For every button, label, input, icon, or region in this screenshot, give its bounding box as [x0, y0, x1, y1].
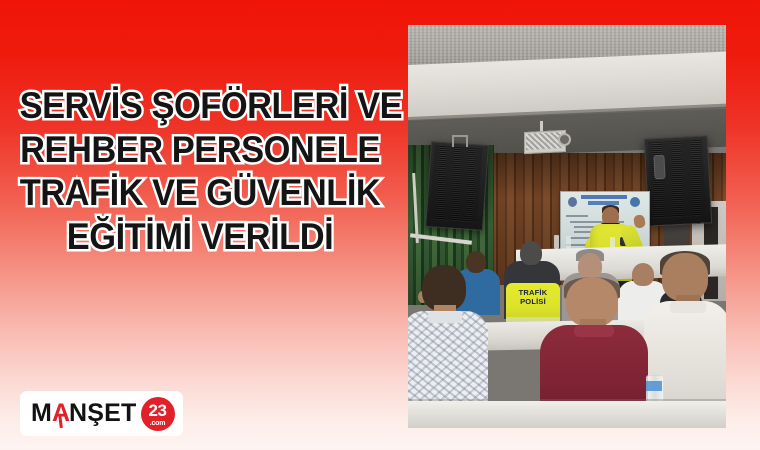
- loudspeaker-left-grill: [429, 145, 482, 222]
- headline-block: SERVİS ŞOFÖRLERİ VE REHBER PERSONELE TRA…: [0, 88, 400, 254]
- audience-front-3-collar: [670, 301, 706, 313]
- logo-badge-number: 23: [149, 402, 167, 419]
- audience-front-3-head: [662, 253, 708, 301]
- water-bottle-3: [610, 237, 615, 249]
- logo-badge-23: 23 .com: [141, 397, 175, 431]
- water-bottle-1: [554, 235, 559, 249]
- site-logo[interactable]: MANŞET 23 .com: [20, 391, 183, 436]
- slide-body-line-1: [566, 215, 588, 217]
- logo-letter-a: A: [52, 401, 69, 426]
- logo-text-nset: NŞET: [69, 401, 136, 426]
- logo-wordmark: MANŞET: [31, 401, 137, 426]
- audience-back-1-head: [466, 251, 486, 273]
- headline-line-2: REHBER PERSONELE: [14, 132, 386, 168]
- slide-title-line-1: [581, 195, 627, 199]
- logo-text-m: M: [31, 401, 52, 426]
- water-bottle-2: [566, 236, 571, 249]
- projector-lens: [560, 135, 569, 144]
- slide-logo-right: [630, 197, 640, 207]
- slide-logo-left: [568, 197, 577, 207]
- headline-line-1: SERVİS ŞOFÖRLERİ VE: [14, 88, 386, 124]
- slide-title-line-2: [588, 201, 619, 205]
- vest-text-block: TRAFİK POLİSİ: [506, 288, 560, 306]
- audience-front-1-collar: [428, 311, 462, 323]
- audience-back-4-head: [632, 263, 654, 286]
- loudspeaker-left-bracket: [452, 135, 468, 147]
- audience-front-2-collar: [574, 325, 614, 337]
- news-cover-card: SERVİS ŞOFÖRLERİ VE REHBER PERSONELE TRA…: [0, 0, 760, 450]
- logo-badge-domain: .com: [150, 420, 166, 427]
- vest-text-line-1: TRAFİK: [506, 288, 560, 297]
- foreground-table: [408, 401, 726, 428]
- traffic-officer-head: [520, 241, 542, 265]
- projector-vent-grill: [526, 132, 562, 150]
- logo-inner: MANŞET 23 .com: [20, 397, 175, 431]
- headline-line-3: TRAFİK VE GÜVENLİK: [14, 175, 386, 211]
- headline-line-4: EĞİTİMİ VERİLDİ: [14, 219, 386, 255]
- audience-back-3-head: [578, 253, 602, 279]
- vest-text-line-2: POLİSİ: [506, 297, 560, 306]
- loudspeaker-right-handle: [653, 155, 665, 180]
- news-photo: TRAFİK POLİSİ: [408, 25, 726, 428]
- foreground-water-bottle-label: [646, 381, 662, 391]
